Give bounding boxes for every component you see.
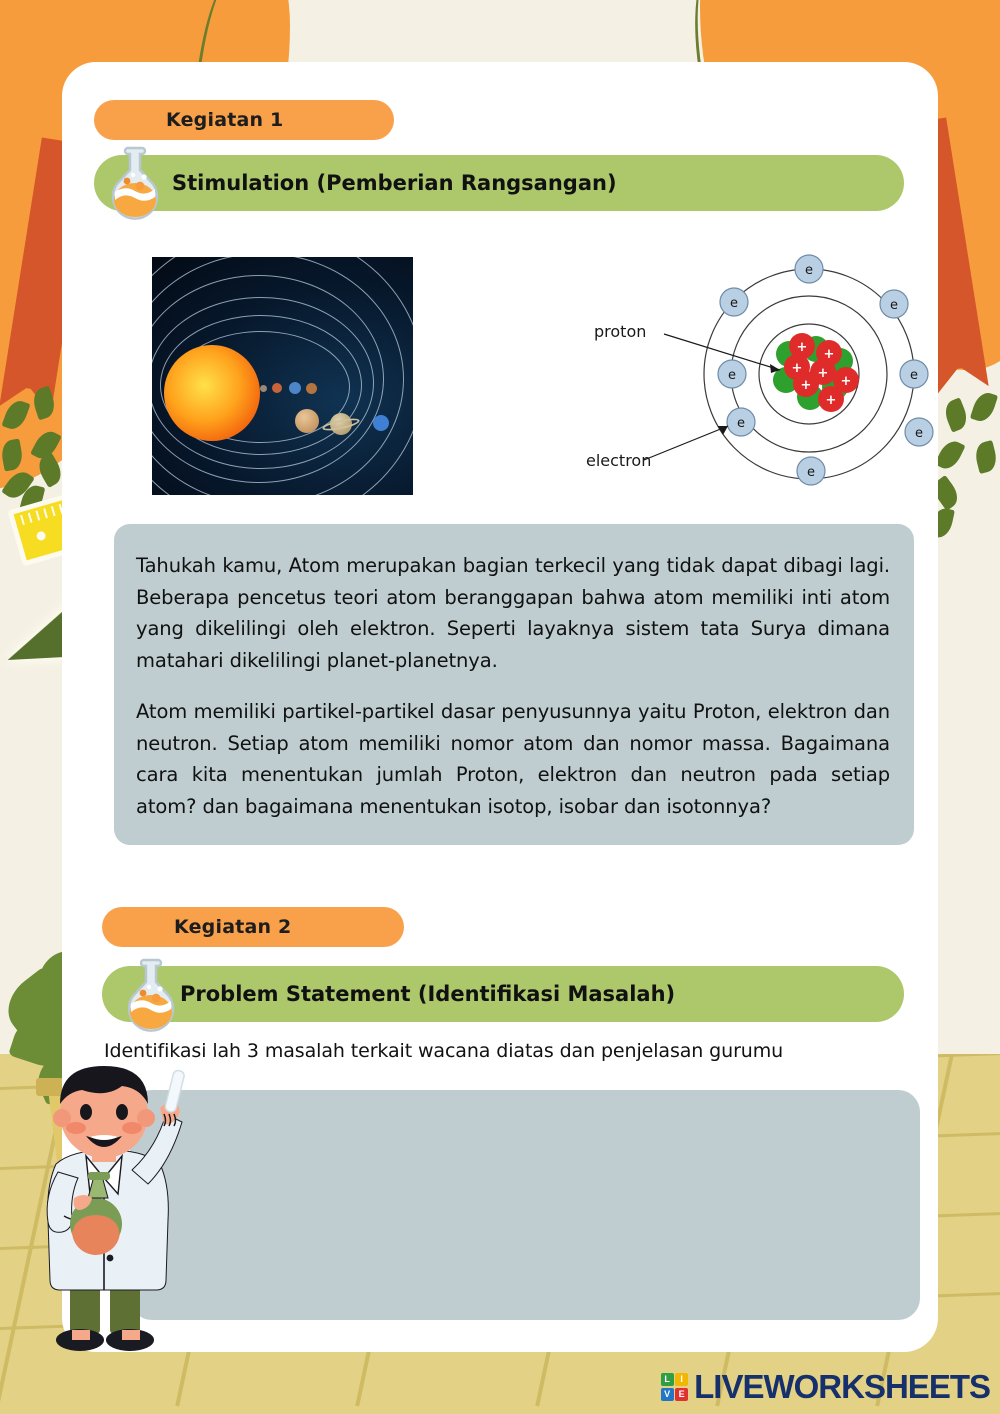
stimulation-paragraph-1: Tahukah kamu, Atom merupakan bagian terk… [136, 550, 890, 676]
logo-tile-v: V [661, 1388, 674, 1401]
flask-icon [100, 144, 170, 222]
stimulation-text-box: Tahukah kamu, Atom merupakan bagian terk… [114, 524, 914, 845]
atom-label-electron: electron [586, 451, 651, 470]
svg-text:e: e [737, 416, 745, 431]
section-header-stimulation: Stimulation (Pemberian Rangsangan) [94, 155, 904, 211]
badge-kegiatan-2: Kegiatan 2 [102, 907, 404, 947]
svg-text:e: e [890, 298, 898, 313]
liveworksheets-footer: L I V E LIVEWORKSHEETS [661, 1368, 990, 1406]
logo-tile-l: L [661, 1373, 674, 1386]
badge-kegiatan-1: Kegiatan 1 [94, 100, 394, 140]
svg-text:e: e [910, 368, 918, 383]
scientist-boy-illustration [14, 1052, 204, 1352]
flask-icon [116, 956, 186, 1034]
section-header-stimulation-label: Stimulation (Pemberian Rangsangan) [172, 171, 617, 195]
svg-text:+: + [818, 366, 829, 381]
answer-input-box[interactable] [130, 1090, 920, 1320]
svg-text:e: e [730, 296, 738, 311]
svg-text:e: e [807, 465, 815, 480]
atom-diagram-image: ++ ++ ++ + ee ee ee ee [584, 254, 974, 498]
svg-text:+: + [801, 378, 812, 393]
planet-neptune [373, 415, 389, 431]
planet-mercury [260, 385, 267, 392]
logo-tile-e: E [675, 1388, 688, 1401]
section-header-problem-statement: Problem Statement (Identifikasi Masalah) [102, 966, 904, 1022]
leaf-icon [973, 440, 1000, 474]
badge-kegiatan-1-label: Kegiatan 1 [166, 109, 283, 131]
svg-text:+: + [797, 340, 808, 355]
svg-text:+: + [824, 347, 835, 362]
logo-tile-i: I [675, 1373, 688, 1386]
planet-venus [272, 383, 282, 393]
svg-text:e: e [915, 426, 923, 441]
svg-text:+: + [841, 374, 852, 389]
liveworksheets-logo-tiles: L I V E [661, 1373, 689, 1401]
section-header-problem-statement-label: Problem Statement (Identifikasi Masalah) [180, 982, 675, 1006]
stimulation-images: ++ ++ ++ + ee ee ee ee [149, 254, 825, 498]
stimulation-paragraph-2: Atom memiliki partikel-partikel dasar pe… [136, 696, 890, 822]
planet-earth [289, 382, 301, 394]
leaf-icon [970, 390, 998, 425]
svg-text:+: + [792, 361, 803, 376]
liveworksheets-brand-text: LIVEWORKSHEETS [694, 1368, 990, 1406]
atom-label-proton: proton [594, 322, 646, 341]
badge-kegiatan-2-label: Kegiatan 2 [174, 916, 291, 938]
solar-system-image [149, 254, 416, 498]
sun [164, 345, 260, 441]
svg-text:+: + [826, 393, 837, 408]
svg-text:e: e [805, 263, 813, 278]
problem-statement-instruction: Identifikasi lah 3 masalah terkait wacan… [104, 1040, 924, 1062]
planet-mars [306, 383, 317, 394]
svg-text:e: e [728, 368, 736, 383]
planet-jupiter [295, 409, 319, 433]
